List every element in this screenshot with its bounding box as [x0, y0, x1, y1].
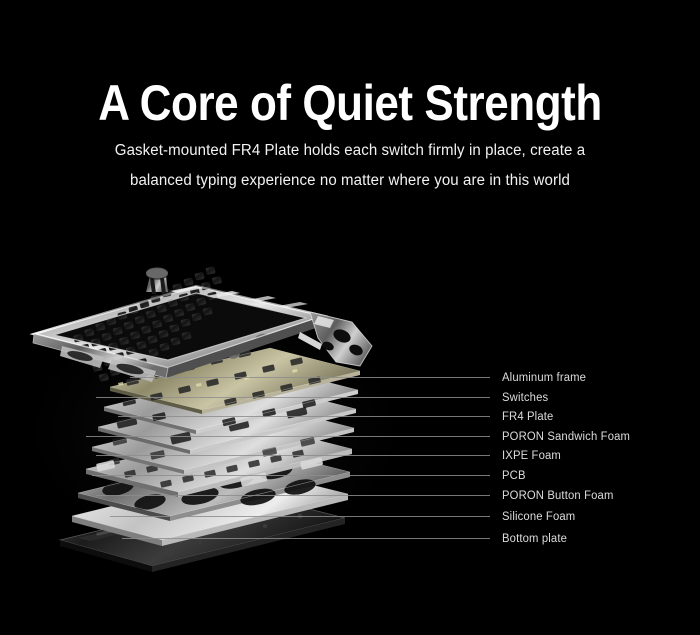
callout-label: Aluminum frame [502, 371, 586, 385]
leader-line [122, 538, 490, 539]
leader-line [96, 397, 490, 398]
callout-aluminum-frame[interactable]: Aluminum frame [0, 371, 700, 385]
callout-label: Bottom plate [502, 532, 567, 546]
leader-line [96, 455, 490, 456]
leader-line [118, 416, 490, 417]
subtitle-line-2: balanced typing experience no matter whe… [59, 166, 641, 196]
callout-label: Switches [502, 391, 548, 405]
leader-line [96, 495, 490, 496]
callout-ixpe-foam[interactable]: IXPE Foam [0, 449, 700, 463]
callout-label: PORON Sandwich Foam [502, 430, 630, 444]
subtitle-line-1: Gasket-mounted FR4 Plate holds each swit… [59, 136, 641, 166]
promo-page: A Core of Quiet Strength Gasket-mounted … [0, 0, 700, 635]
page-title: A Core of Quiet Strength [42, 76, 658, 130]
callout-label: IXPE Foam [502, 449, 561, 463]
frame-knob-top [146, 268, 168, 295]
callout-switches[interactable]: Switches [0, 391, 700, 405]
leader-line [86, 436, 490, 437]
callout-label: PCB [502, 469, 526, 483]
callout-pcb[interactable]: PCB [0, 469, 700, 483]
callout-poron-sandwich-foam[interactable]: PORON Sandwich Foam [0, 430, 700, 444]
callout-bottom-plate[interactable]: Bottom plate [0, 532, 700, 546]
callout-label: Silicone Foam [502, 510, 575, 524]
leader-line [110, 516, 490, 517]
callout-silicone-foam[interactable]: Silicone Foam [0, 510, 700, 524]
leader-line [92, 475, 490, 476]
callout-fr4-plate[interactable]: FR4 Plate [0, 410, 700, 424]
page-subtitle: Gasket-mounted FR4 Plate holds each swit… [50, 136, 650, 196]
callout-poron-button-foam[interactable]: PORON Button Foam [0, 489, 700, 503]
callout-label: PORON Button Foam [502, 489, 613, 503]
callout-label: FR4 Plate [502, 410, 553, 424]
leader-line [130, 377, 490, 378]
